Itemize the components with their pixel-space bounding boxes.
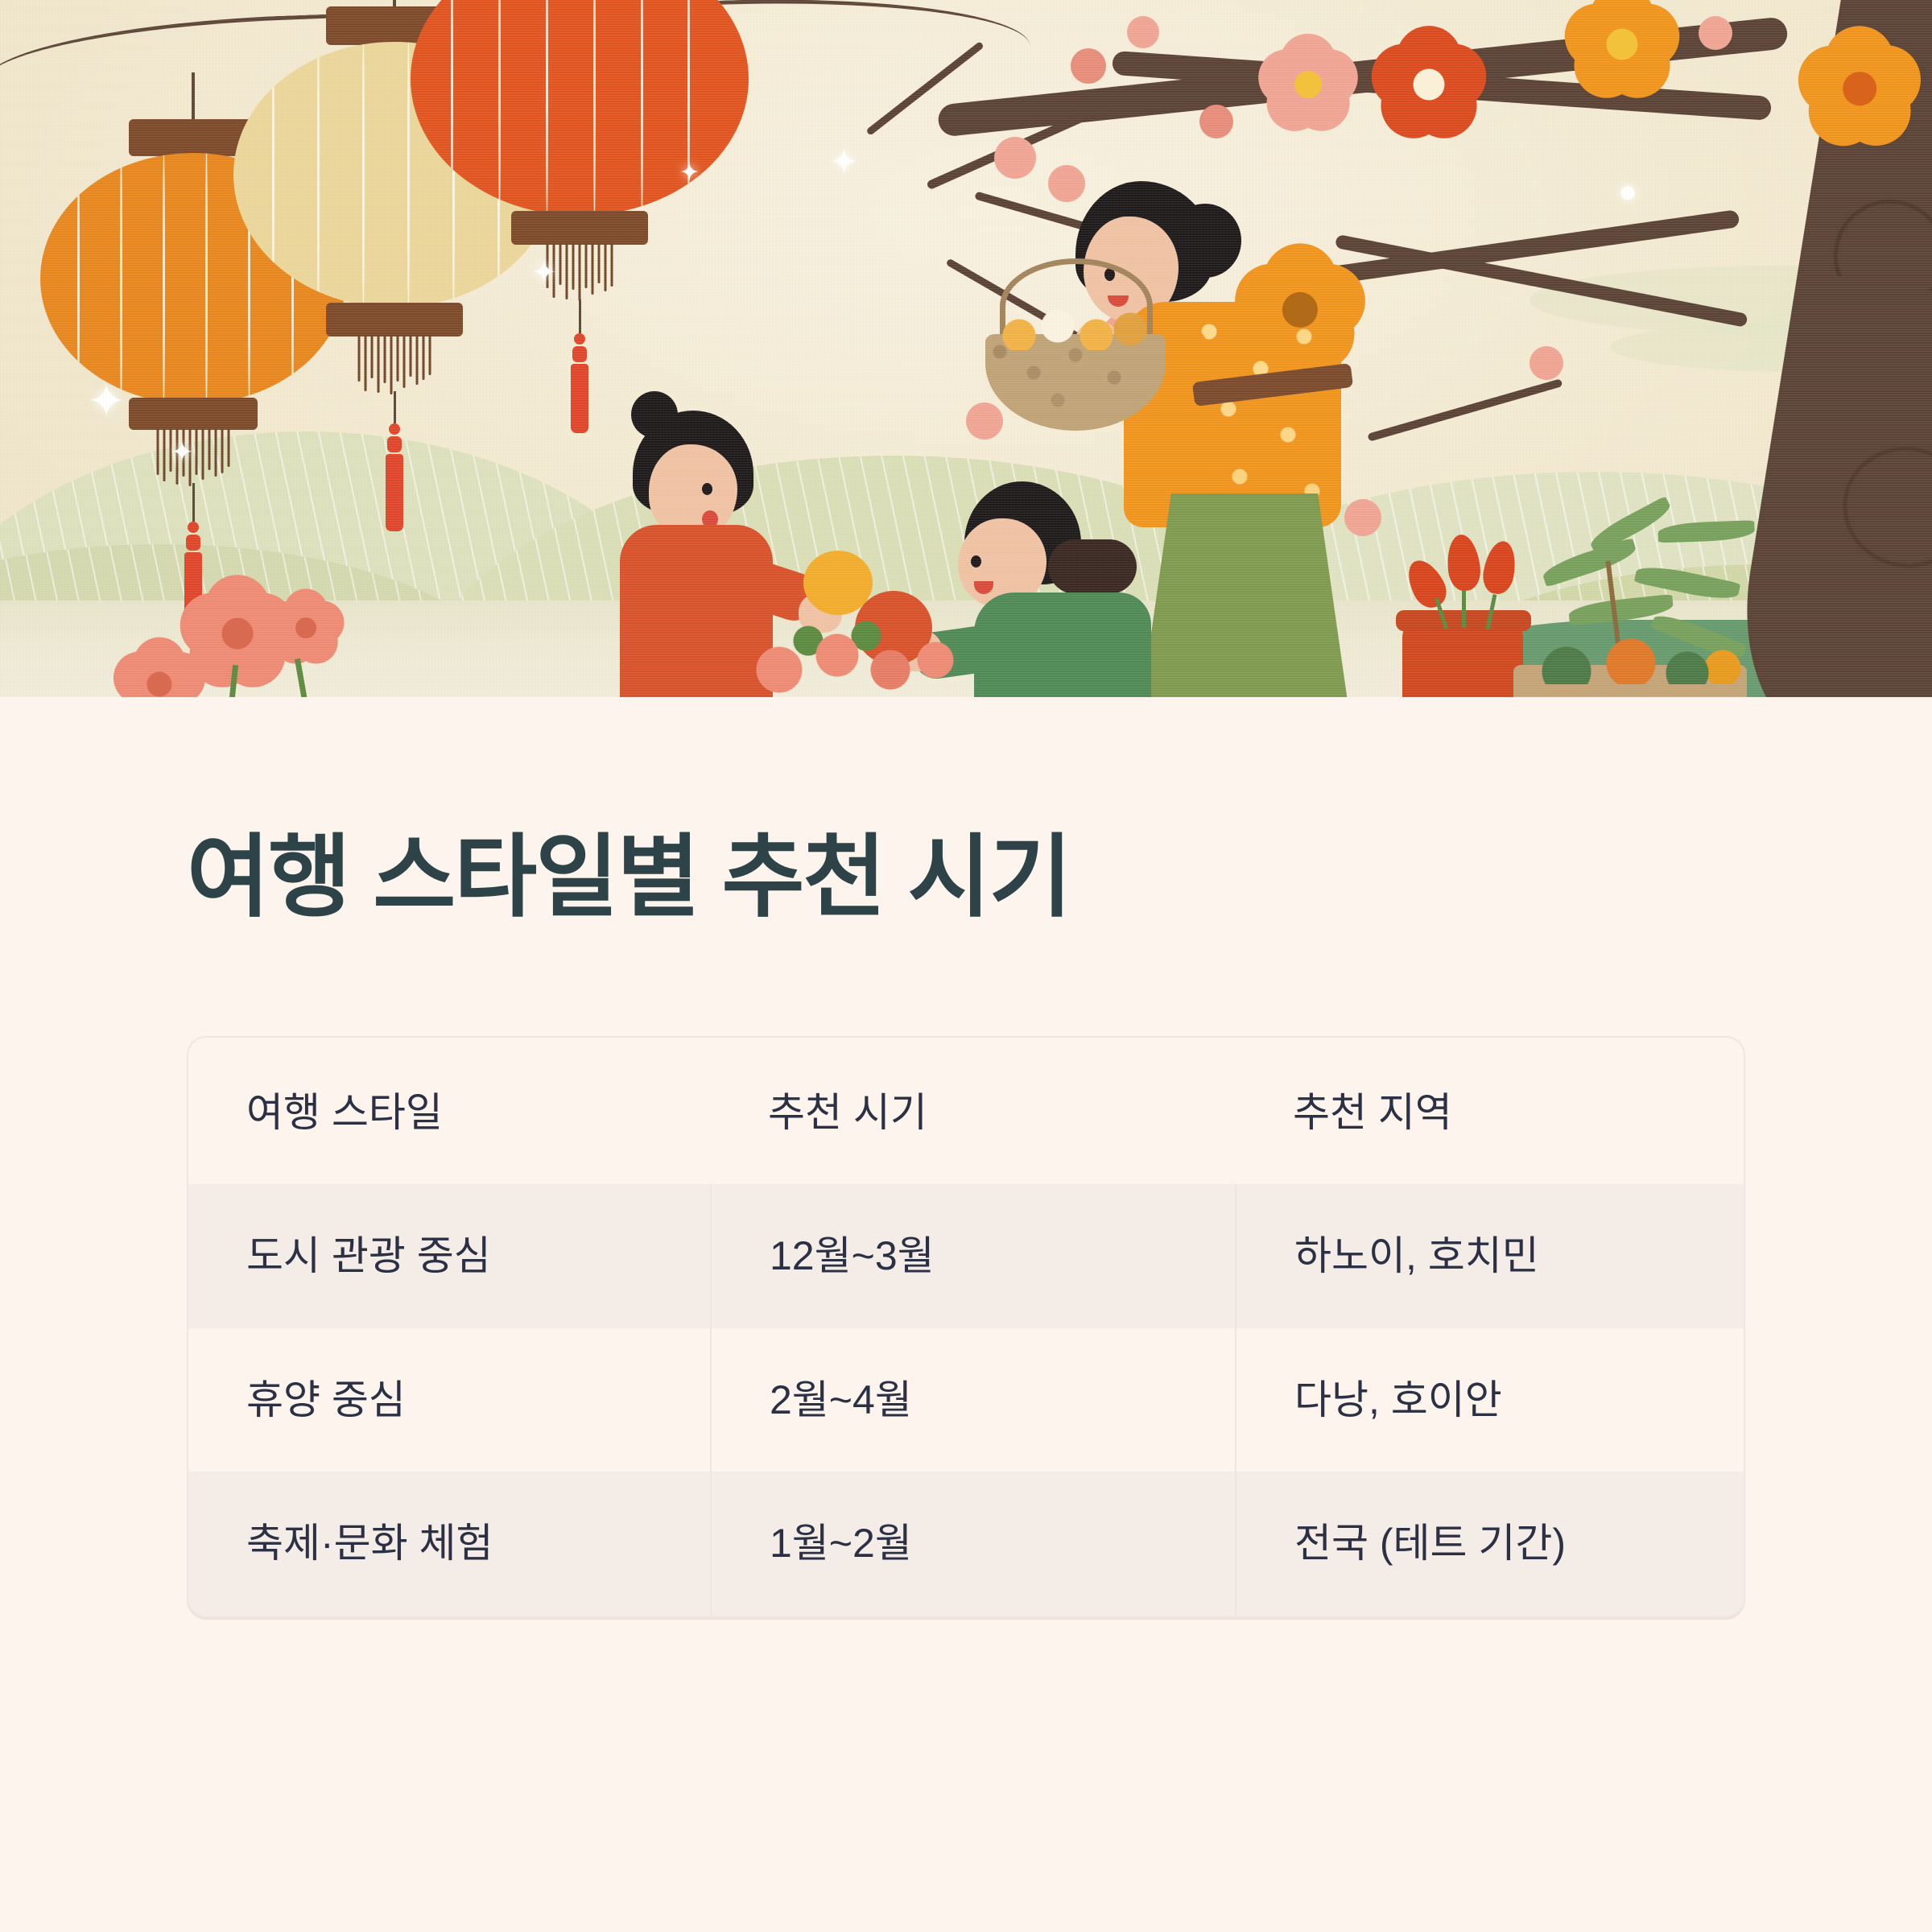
cell-style: 축제·문화 체험 [188,1472,710,1616]
cell-region: 전국 (테트 기간) [1235,1472,1744,1616]
column-header-region: 추천 지역 [1235,1038,1744,1185]
cell-season: 2월~4월 [710,1328,1235,1472]
recommendation-table: 여행 스타일 추천 시기 추천 지역 도시 관광 중심 12월~3월 하노이, … [187,1036,1745,1617]
table-row: 축제·문화 체험 1월~2월 전국 (테트 기간) [188,1472,1744,1616]
cell-style: 휴양 중심 [188,1328,710,1472]
page-title: 여행 스타일별 추천 시기 [187,826,1745,930]
column-header-style: 여행 스타일 [188,1038,710,1185]
table-header-row: 여행 스타일 추천 시기 추천 지역 [188,1038,1744,1185]
cell-style: 도시 관광 중심 [188,1184,710,1328]
hero-illustration: ✦ ✦ ✦ ✦ ✦ ● [0,0,1932,697]
content-area: 여행 스타일별 추천 시기 여행 스타일 추천 시기 추천 지역 도시 관광 중… [0,826,1932,1617]
table-row: 도시 관광 중심 12월~3월 하노이, 호치민 [188,1184,1744,1328]
paper-texture-overlay [0,0,1932,697]
cell-region: 다낭, 호이안 [1235,1328,1744,1472]
cell-season: 12월~3월 [710,1184,1235,1328]
column-header-season: 추천 시기 [710,1038,1235,1185]
cell-season: 1월~2월 [710,1472,1235,1616]
cell-region: 하노이, 호치민 [1235,1184,1744,1328]
page-root: ✦ ✦ ✦ ✦ ✦ ● [0,0,1932,1932]
table-row: 휴양 중심 2월~4월 다낭, 호이안 [188,1328,1744,1472]
